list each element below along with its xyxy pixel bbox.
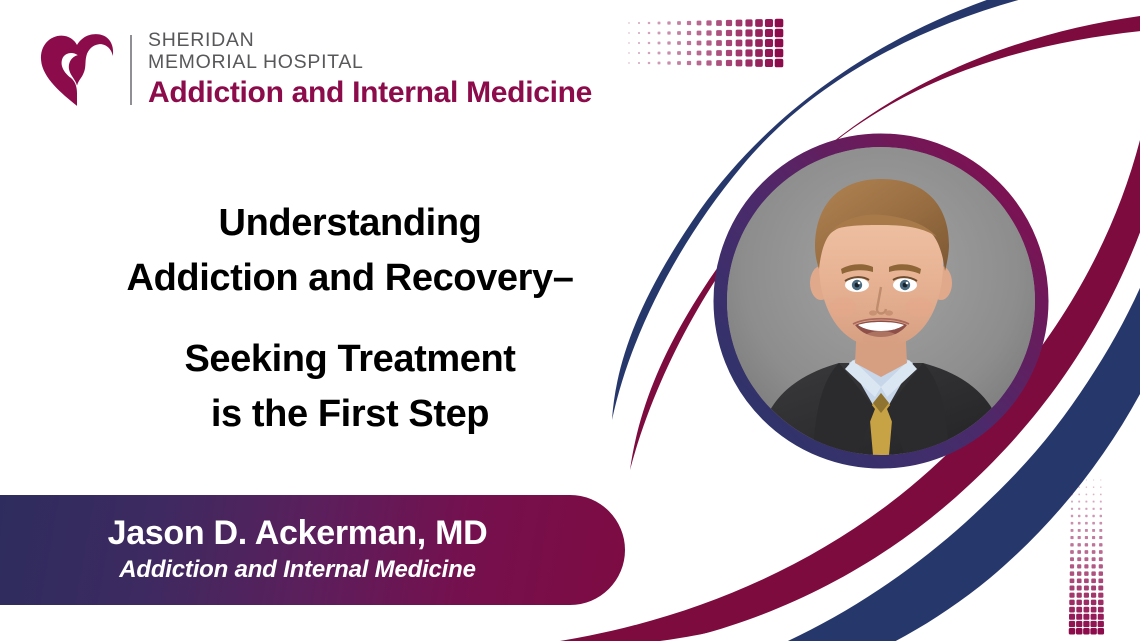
department-name: Addiction and Internal Medicine — [148, 75, 592, 110]
halftone-dots-bottom — [1068, 476, 1126, 636]
heart-logo-icon — [38, 31, 116, 109]
title-line-1: Understanding — [0, 196, 700, 251]
title-line-3: Seeking Treatment — [0, 332, 700, 387]
org-name-line-2: MEMORIAL HOSPITAL — [148, 52, 592, 74]
title-slide: SHERIDAN MEMORIAL HOSPITAL Addiction and… — [0, 0, 1140, 641]
org-name-line-1: SHERIDAN — [148, 30, 592, 52]
speaker-banner: Jason D. Ackerman, MD Addiction and Inte… — [0, 495, 625, 605]
speaker-portrait — [713, 133, 1049, 469]
halftone-dots-top — [624, 18, 786, 70]
speaker-role: Addiction and Internal Medicine — [119, 555, 476, 585]
logo-divider-rule — [130, 35, 132, 105]
logo-text-group: SHERIDAN MEMORIAL HOSPITAL Addiction and… — [148, 30, 592, 110]
speaker-name: Jason D. Ackerman, MD — [108, 515, 488, 552]
title-line-2: Addiction and Recovery– — [0, 251, 700, 306]
title-line-4: is the First Step — [0, 387, 700, 442]
page-title: Understanding Addiction and Recovery– Se… — [0, 196, 700, 442]
title-spacer — [0, 306, 700, 332]
portrait-photo — [727, 147, 1035, 455]
brand-logo-lockup: SHERIDAN MEMORIAL HOSPITAL Addiction and… — [38, 30, 592, 110]
